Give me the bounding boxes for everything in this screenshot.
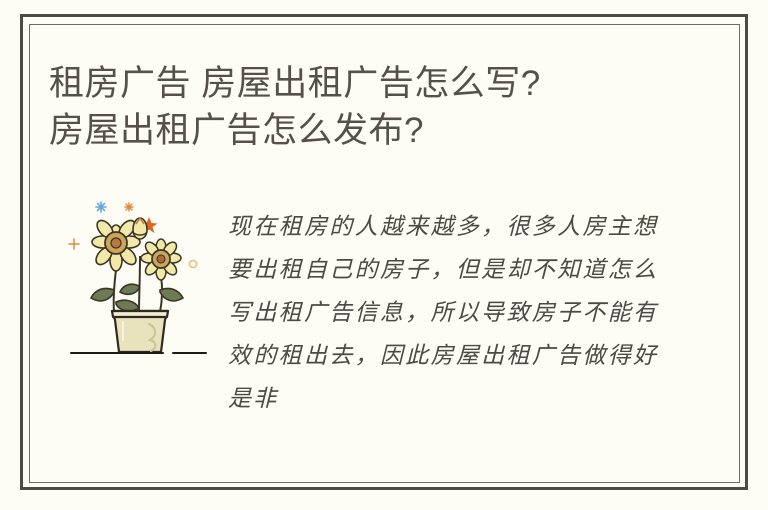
vase-icon	[112, 311, 168, 352]
sparkle-orange-cross-icon	[69, 239, 79, 249]
flower-bud-icon	[133, 218, 147, 239]
sparkle-ring-icon	[189, 260, 196, 267]
sparkle-orange-small-icon	[125, 203, 133, 211]
article-content: 现在租房的人越来越多，很多人房主想要出租自己的房子，但是却不知道怎么写出租广告信…	[49, 190, 709, 460]
title-line-2: 房屋出租广告怎么发布?	[49, 107, 689, 154]
article-card: 租房广告 房屋出租广告怎么写? 房屋出租广告怎么发布?	[0, 0, 768, 510]
article-paragraph: 现在租房的人越来越多，很多人房主想要出租自己的房子，但是却不知道怎么写出租广告信…	[228, 206, 658, 421]
sunflower-right-icon	[141, 239, 181, 280]
flowers-in-vase-illustration	[57, 190, 222, 370]
page-title: 租房广告 房屋出租广告怎么写? 房屋出租广告怎么发布?	[49, 60, 689, 154]
flower-leaves	[91, 284, 183, 311]
sparkle-blue-icon	[96, 202, 106, 212]
title-line-1: 租房广告 房屋出租广告怎么写?	[49, 60, 689, 107]
article-body: 现在租房的人越来越多，很多人房主想要出租自己的房子，但是却不知道怎么写出租广告信…	[228, 206, 658, 421]
